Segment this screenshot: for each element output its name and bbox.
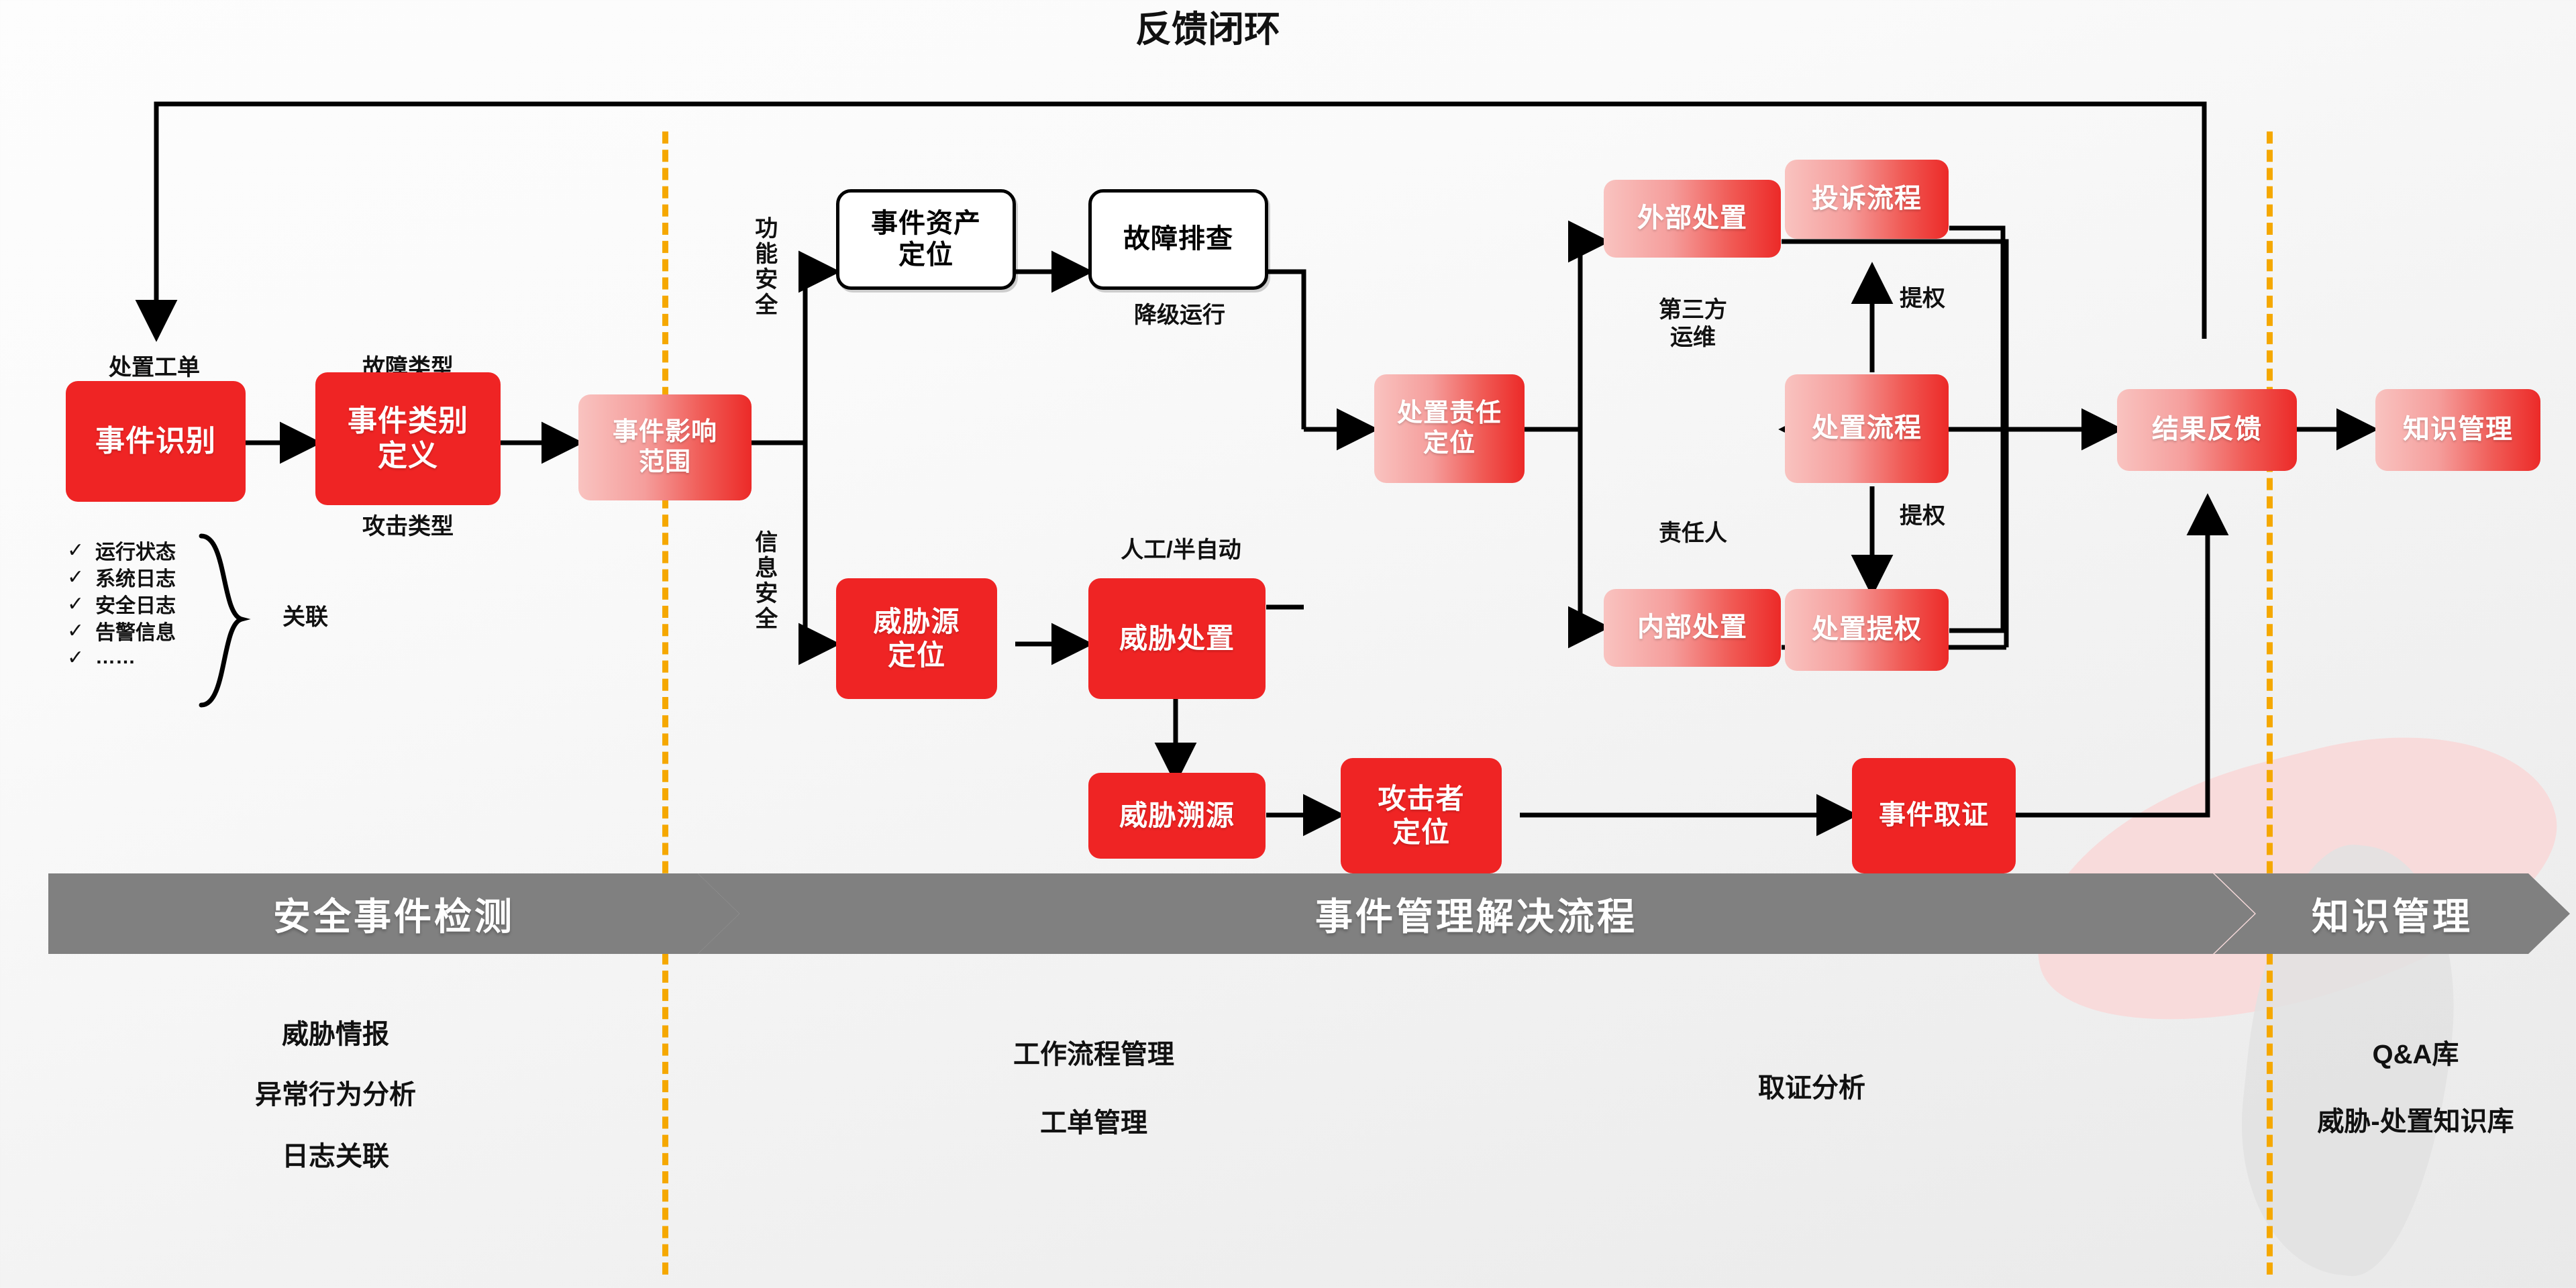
node-incident-forensics[interactable]: 事件取证 xyxy=(1852,758,2016,873)
checklist-brace xyxy=(195,533,268,708)
list-item-label: 系统日志 xyxy=(95,562,176,592)
divider-management-knowledge xyxy=(2267,131,2273,1275)
node-incident-category-definition[interactable]: 事件类别 定义 xyxy=(315,372,501,505)
list-item: ✓ …… xyxy=(67,644,176,671)
node-external-handle[interactable]: 外部处置 xyxy=(1604,180,1781,258)
node-handle-escalate[interactable]: 处置提权 xyxy=(1785,589,1949,671)
list-item: ✓ 系统日志 xyxy=(67,563,176,590)
evidence-checklist: ✓ 运行状态 ✓ 系统日志 ✓ 安全日志 ✓ 告警信息 ✓ …… xyxy=(67,537,176,671)
node-knowledge-management[interactable]: 知识管理 xyxy=(2375,389,2540,471)
banner-stage-label: 事件管理解决流程 xyxy=(1315,887,1637,941)
caption-escalate-down: 提权 xyxy=(1892,504,1953,529)
check-icon: ✓ xyxy=(67,539,85,562)
node-threat-handle[interactable]: 威胁处置 xyxy=(1088,578,1266,699)
check-icon: ✓ xyxy=(67,646,85,669)
footnote-detection-1: 威胁情报 xyxy=(221,1018,450,1051)
caption-information-safety: 信息安全 xyxy=(750,530,778,632)
banner-stage-knowledge[interactable]: 知识管理 xyxy=(2214,873,2570,954)
banner-stage-label: 知识管理 xyxy=(2312,887,2473,941)
diagram-canvas: 反馈闭环 处置工单 故障类型 攻击类型 功能安全 信息安全 降级运行 人工/半自… xyxy=(0,0,2576,1288)
list-item-label: 安全日志 xyxy=(95,589,176,619)
caption-third-party-ops: 第三方 运维 xyxy=(1604,297,1782,352)
list-item: ✓ 运行状态 xyxy=(67,537,176,563)
list-item: ✓ 安全日志 xyxy=(67,590,176,617)
footnote-detection-3: 日志关联 xyxy=(221,1140,450,1173)
node-fault-troubleshoot[interactable]: 故障排查 xyxy=(1088,189,1268,290)
check-icon: ✓ xyxy=(67,592,85,616)
node-incident-impact-scope[interactable]: 事件影响 范围 xyxy=(578,394,752,500)
node-result-feedback[interactable]: 结果反馈 xyxy=(2117,389,2297,471)
footnote-management-1: 工作流程管理 xyxy=(960,1038,1228,1071)
caption-manual-semi-auto: 人工/半自动 xyxy=(1074,537,1288,564)
caption-dispatch-ticket: 处置工单 xyxy=(60,354,248,382)
list-item-label: 告警信息 xyxy=(95,616,176,645)
caption-attack-type: 攻击类型 xyxy=(314,513,502,541)
node-complaint-flow[interactable]: 投诉流程 xyxy=(1785,160,1949,239)
node-responsibility-locate[interactable]: 处置责任 定位 xyxy=(1374,374,1525,483)
caption-correlate: 关联 xyxy=(268,604,342,631)
footnote-knowledge-2: 威胁-处置知识库 xyxy=(2275,1106,2557,1138)
footnote-knowledge-1: Q&A库 xyxy=(2315,1038,2516,1071)
divider-detection-management xyxy=(662,131,668,1275)
node-attacker-locate[interactable]: 攻击者 定位 xyxy=(1341,758,1502,873)
check-icon: ✓ xyxy=(67,619,85,643)
list-item-label: 运行状态 xyxy=(95,535,176,565)
footnote-detection-2: 异常行为分析 xyxy=(221,1079,450,1111)
list-item: ✓ 告警信息 xyxy=(67,617,176,644)
caption-functional-safety: 功能安全 xyxy=(750,216,778,318)
footnote-management-2: 工单管理 xyxy=(960,1107,1228,1139)
diagram-title: 反馈闭环 xyxy=(1087,8,1329,52)
banner-stage-management[interactable]: 事件管理解决流程 xyxy=(698,873,2255,954)
list-item-label: …… xyxy=(95,646,136,669)
node-internal-handle[interactable]: 内部处置 xyxy=(1604,589,1781,667)
banner-stage-detection[interactable]: 安全事件检测 xyxy=(48,873,739,954)
banner-stage-label: 安全事件检测 xyxy=(273,887,515,941)
node-threat-source-locate[interactable]: 威胁源 定位 xyxy=(836,578,997,699)
check-icon: ✓ xyxy=(67,566,85,589)
caption-responsible-person: 责任人 xyxy=(1604,520,1782,547)
node-asset-locate[interactable]: 事件资产 定位 xyxy=(836,189,1016,290)
node-threat-trace[interactable]: 威胁溯源 xyxy=(1088,773,1266,859)
node-handle-flow[interactable]: 处置流程 xyxy=(1785,374,1949,483)
caption-escalate-up: 提权 xyxy=(1892,287,1953,311)
node-incident-identify[interactable]: 事件识别 xyxy=(66,381,246,502)
footnote-forensics-1: 取证分析 xyxy=(1718,1072,1906,1104)
caption-degraded-run: 降级运行 xyxy=(1087,302,1272,329)
